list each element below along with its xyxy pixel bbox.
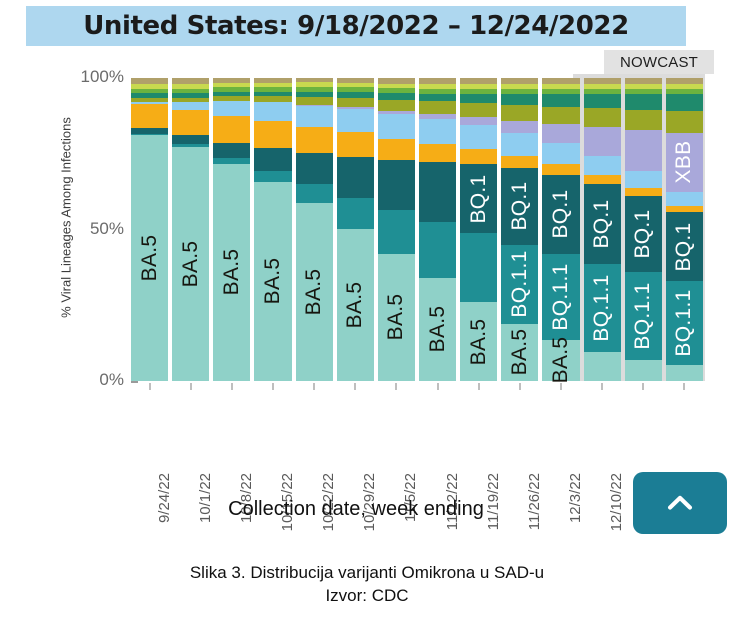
segment-BA-5: BA.5 — [419, 278, 456, 381]
segment-BA-2-75-2 — [501, 105, 538, 121]
segment-BF-7 — [131, 104, 168, 128]
segment-BF-7 — [419, 144, 456, 163]
chart-figure: NOWCAST % Viral Lineages Among Infection… — [26, 50, 726, 540]
segment-label: BA.5 — [138, 235, 162, 282]
x-tick-mark — [560, 383, 562, 390]
x-tick-mark — [395, 383, 397, 390]
x-tick-mark — [313, 383, 315, 390]
x-axis-title: Collection date, week ending — [26, 498, 686, 521]
segment-BA-5: BA.5 — [378, 254, 415, 381]
stacked-bar-plot: BA.5BA.5BA.5BA.5BA.5BA.5BA.5BA.5BQ.1BA.5… — [129, 78, 705, 381]
segment-BA-2-75-2 — [666, 111, 703, 133]
segment-BQ-1-1 — [378, 210, 415, 254]
segment-BQ-1-1 — [254, 171, 291, 182]
segment-BQ-1 — [254, 148, 291, 171]
segment-BA-4-6 — [213, 101, 250, 116]
bar-12-3-22[interactable]: BQ.1BQ.1.1BA.5 — [542, 78, 579, 381]
segment-label: BQ.1 — [631, 210, 655, 259]
segment-BF-7 — [542, 164, 579, 175]
segment-BA-4-6 — [666, 192, 703, 206]
segment-BA-2-75-2 — [584, 108, 621, 127]
segment-BN-1 — [584, 94, 621, 108]
segment-BA-2-75-2 — [625, 110, 662, 131]
x-tick-mark — [478, 383, 480, 390]
segment-BA-5: BA.5 — [501, 324, 538, 381]
x-axis: 9/24/2210/1/2210/8/2210/15/2210/22/2210/… — [129, 383, 705, 493]
segment-BA-5: BA.5 — [254, 182, 291, 381]
segment-label: BQ.1.1 — [549, 263, 573, 330]
bar-10-29-22[interactable]: BA.5 — [337, 78, 374, 381]
caption-line-1: Slika 3. Distribucija varijanti Omikrona… — [0, 562, 734, 585]
segment-BF-7 — [172, 110, 209, 136]
bar-10-1-22[interactable]: BA.5 — [172, 78, 209, 381]
segment-BA-2-75-2 — [419, 101, 456, 113]
segment-label: BQ.1.1 — [508, 251, 532, 318]
bar-2-24-22[interactable]: XBBBQ.1BQ.1.1 — [666, 78, 703, 381]
segment-BA-2-75-2 — [296, 97, 333, 105]
bar-11-12-22[interactable]: BA.5 — [419, 78, 456, 381]
segment-label: BA.5 — [302, 268, 326, 315]
y-tick-label: 100% — [81, 67, 124, 87]
segment-BA-5: BA.5 — [460, 302, 497, 380]
segment-BF-7 — [213, 116, 250, 143]
segment-BA-4-6 — [254, 102, 291, 120]
segment-label: XBB — [672, 141, 696, 184]
segment-XBB — [542, 124, 579, 143]
segment-BA-5 — [625, 360, 662, 381]
segment-label: BA.5 — [426, 306, 450, 353]
segment-BA-4-6 — [501, 133, 538, 155]
segment-BA-2-75-2 — [378, 100, 415, 111]
segment-BQ-1-1 — [337, 198, 374, 229]
segment-BA-4-6 — [584, 156, 621, 175]
y-tick-label: 0% — [99, 370, 124, 390]
segment-BA-4-6 — [625, 171, 662, 188]
segment-BA-2-75-2 — [460, 103, 497, 117]
x-tick-mark — [272, 383, 274, 390]
segment-BQ-1: BQ.1 — [501, 168, 538, 244]
segment-label: BQ.1.1 — [631, 283, 655, 350]
segment-BN-1 — [378, 93, 415, 100]
bar-2-17-22[interactable]: BQ.1BQ.1.1 — [625, 78, 662, 381]
segment-BA-5: BA.5 — [172, 147, 209, 381]
segment-BA-5: BA.5 — [337, 229, 374, 381]
segment-label: BA.5 — [179, 241, 203, 288]
segment-BF-7 — [296, 127, 333, 153]
segment-BQ-1 — [296, 153, 333, 184]
x-tick-mark — [437, 383, 439, 390]
segment-BA-4-6 — [337, 109, 374, 132]
x-tick-mark — [519, 383, 521, 390]
x-tick-mark — [231, 383, 233, 390]
x-tick-mark — [149, 383, 151, 390]
bar-11-5-22[interactable]: BA.5 — [378, 78, 415, 381]
y-axis: 100%50%0% — [66, 74, 138, 386]
segment-XBB: XBB — [666, 133, 703, 192]
segment-BA-2-75-2 — [542, 107, 579, 124]
segment-label: BQ.1.1 — [590, 274, 614, 341]
segment-BF-7 — [625, 188, 662, 196]
scroll-to-top-button[interactable] — [633, 472, 727, 534]
segment-BQ-1: BQ.1 — [542, 175, 579, 254]
segment-BA-5: BA.5 — [542, 340, 579, 381]
segment-BF-7 — [254, 121, 291, 149]
segment-BF-7 — [337, 132, 374, 157]
x-tick-mark — [601, 383, 603, 390]
segment-BN-1 — [625, 94, 662, 110]
chevron-up-icon — [663, 486, 697, 520]
bar-10-8-22[interactable]: BA.5 — [213, 78, 250, 381]
segment-BQ-1 — [337, 157, 374, 197]
segment-BN-1 — [542, 94, 579, 107]
segment-XBB — [501, 121, 538, 134]
segment-label: BA.5 — [549, 337, 573, 384]
segment-BF-7 — [584, 175, 621, 185]
segment-BA-5 — [666, 365, 703, 381]
segment-label: BQ.1 — [672, 222, 696, 271]
segment-BA-4-6 — [378, 114, 415, 139]
bar-11-19-22[interactable]: BQ.1BA.5 — [460, 78, 497, 381]
segment-XBB — [584, 127, 621, 156]
bar-9-24-22[interactable]: BA.5 — [131, 78, 168, 381]
bar-12-10-22[interactable]: BQ.1BQ.1.1 — [584, 78, 621, 381]
segment-BQ-1 — [419, 162, 456, 221]
segment-BF-7 — [378, 139, 415, 161]
segment-BA-2-75-2 — [337, 98, 374, 107]
segment-label: BA.5 — [261, 258, 285, 305]
segment-XBB — [460, 117, 497, 125]
segment-BQ-1-1 — [460, 233, 497, 302]
segment-label: BQ.1 — [508, 182, 532, 231]
figure-caption: Slika 3. Distribucija varijanti Omikrona… — [0, 562, 734, 608]
segment-BN-1 — [460, 94, 497, 103]
title-banner: United States: 9/18/2022 – 12/24/2022 — [26, 6, 686, 46]
figure-page: United States: 9/18/2022 – 12/24/2022 NO… — [0, 0, 734, 620]
segment-BF-7 — [460, 149, 497, 165]
segment-BN-1 — [666, 94, 703, 111]
segment-BF-7 — [501, 156, 538, 169]
segment-BN-1 — [419, 94, 456, 102]
segment-label: BA.5 — [467, 318, 491, 365]
caption-line-2: Izvor: CDC — [0, 585, 734, 608]
segment-BA-5: BA.5 — [296, 203, 333, 381]
segment-BA-4-6 — [419, 119, 456, 144]
page-title: United States: 9/18/2022 – 12/24/2022 — [83, 11, 629, 41]
segment-BQ-1-1: BQ.1.1 — [501, 245, 538, 324]
x-tick-mark — [642, 383, 644, 390]
segment-BQ-1 — [172, 135, 209, 144]
bar-10-22-22[interactable]: BA.5 — [296, 78, 333, 381]
segment-XBB — [625, 130, 662, 171]
segment-BQ-1: BQ.1 — [666, 212, 703, 281]
segment-label: BA.5 — [343, 281, 367, 328]
segment-label: BQ.1.1 — [672, 290, 696, 357]
segment-BQ-1-1 — [296, 184, 333, 202]
segment-label: BA.5 — [508, 329, 532, 376]
bar-11-26-22[interactable]: BQ.1BQ.1.1BA.5 — [501, 78, 538, 381]
segment-BQ-1-1 — [419, 222, 456, 278]
segment-BQ-1-1: BQ.1.1 — [584, 264, 621, 353]
segment-BQ-1-1: BQ.1.1 — [666, 281, 703, 365]
segment-BA-4-6 — [542, 143, 579, 164]
x-tick-mark — [354, 383, 356, 390]
segment-BA-5: BA.5 — [213, 164, 250, 381]
bar-10-15-22[interactable]: BA.5 — [254, 78, 291, 381]
x-tick-mark — [683, 383, 685, 390]
segment-BQ-1: BQ.1 — [625, 196, 662, 272]
y-tick-label: 50% — [90, 219, 124, 239]
segment-label: BQ.1 — [549, 190, 573, 239]
segment-BA-4-6 — [296, 106, 333, 128]
segment-BQ-1-1: BQ.1.1 — [625, 272, 662, 360]
segment-BA-5: BA.5 — [131, 135, 168, 380]
segment-BQ-1: BQ.1 — [584, 184, 621, 263]
segment-label: BQ.1 — [590, 199, 614, 248]
segment-BQ-1 — [378, 160, 415, 210]
segment-BQ-1-1: BQ.1.1 — [542, 254, 579, 340]
nowcast-badge-label: NOWCAST — [620, 54, 698, 71]
segment-BA-5 — [584, 352, 621, 381]
segment-BA-4-6 — [460, 125, 497, 149]
nowcast-badge: NOWCAST — [604, 50, 714, 74]
segment-label: BA.5 — [384, 294, 408, 341]
segment-label: BA.5 — [220, 249, 244, 296]
segment-label: BQ.1 — [467, 174, 491, 223]
segment-BN-1 — [501, 94, 538, 105]
segment-BA-4-6 — [172, 102, 209, 110]
segment-BQ-1 — [213, 143, 250, 158]
x-tick-mark — [190, 383, 192, 390]
segment-BQ-1: BQ.1 — [460, 164, 497, 233]
